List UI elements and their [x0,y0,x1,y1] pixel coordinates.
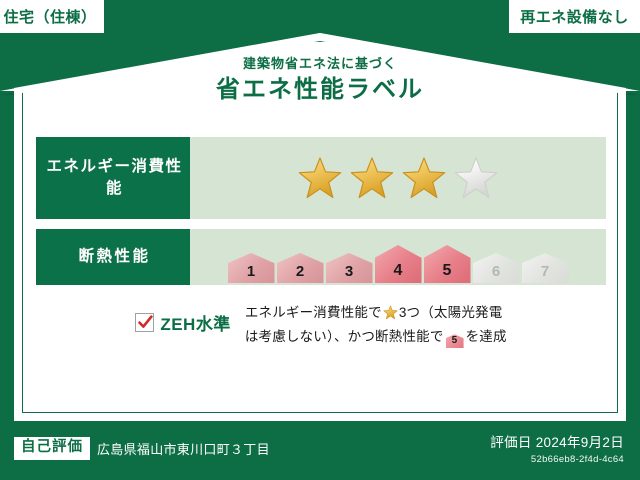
insulation-badge-1: 1 [228,253,275,283]
renewable-energy-tab-label: 再エネ設備なし [520,6,629,27]
zeh-desc-line2-prefix: は考慮しない）、かつ断熱性能で [245,329,444,344]
zeh-description-line-2: は考慮しない）、かつ断熱性能で5を達成 [245,325,507,349]
document-id: 52b66eb8-2f4d-4c64 [490,454,624,465]
zeh-checkbox[interactable] [135,313,154,332]
zeh-desc-line2-suffix: を達成 [466,329,507,344]
self-evaluation-badge: 自己評価 [14,437,90,460]
footer-right-group: 評価日 2024年9月2日 52b66eb8-2f4d-4c64 [490,431,624,465]
insulation-badge-6: 6 [473,253,520,283]
insulation-badge-4: 4 [375,245,422,283]
star-filled-2-icon [349,156,395,200]
check-icon [137,314,154,331]
building-type-tab: 住宅（住棟） [0,0,104,33]
star-filled-3-icon [401,156,447,200]
label-content: 建築物省エネ法に基づく 省エネ性能ラベル エネルギー消費性能 [14,33,626,421]
insulation-badge-strip: 1 2 3 4 5 6 7 [228,229,569,285]
insulation-badge-7: 7 [522,253,569,283]
footer-left-group: 自己評価 広島県福山市東川口町３丁目 [14,437,270,460]
building-type-tab-label: 住宅（住棟） [3,6,96,27]
energy-star-rating [190,137,606,219]
property-address: 広島県福山市東川口町３丁目 [97,439,270,458]
zeh-description-line-1: エネルギー消費性能で3つ（太陽光発電 [245,301,507,325]
insulation-badge-5: 5 [424,245,471,283]
insulation-performance-label: 断熱性能 [39,229,190,285]
star-inline-icon [383,305,398,320]
star-empty-4-icon [453,156,499,200]
zeh-description: エネルギー消費性能で3つ（太陽光発電 は考慮しない）、かつ断熱性能で5を達成 [245,301,507,350]
zeh-mark: ZEH水準 [135,301,231,335]
insulation-level-scale: 1 2 3 4 5 6 7 [190,229,606,285]
insulation-performance-row: 断熱性能 1 2 3 4 5 6 7 [36,229,606,285]
zeh-desc-line1-suffix: 3つ（太陽光発電 [399,305,503,320]
evaluation-date: 評価日 2024年9月2日 [490,431,624,451]
zeh-section: ZEH水準 エネルギー消費性能で3つ（太陽光発電 は考慮しない）、かつ断熱性能で… [36,301,606,350]
title-main: 省エネ性能ラベル [14,74,626,106]
page-title: 建築物省エネ法に基づく 省エネ性能ラベル [14,56,626,106]
inline-insulation-badge: 5 [446,334,464,348]
renewable-energy-tab: 再エネ設備なし [509,0,640,33]
zeh-desc-line1-prefix: エネルギー消費性能で [245,305,382,320]
energy-performance-row: エネルギー消費性能 [36,137,606,219]
energy-performance-label: 住宅（住棟） 再エネ設備なし 建築物省エネ法に基づく 省エネ性能ラベル エネルギ… [0,0,640,480]
energy-performance-label: エネルギー消費性能 [39,137,190,219]
insulation-badge-2: 2 [277,253,324,283]
label-footer: 自己評価 広島県福山市東川口町３丁目 評価日 2024年9月2日 52b66eb… [0,421,640,480]
insulation-badge-3: 3 [326,253,373,283]
title-subtitle: 建築物省エネ法に基づく [14,56,626,72]
zeh-label: ZEH水準 [160,310,231,335]
star-filled-1-icon [297,156,343,200]
